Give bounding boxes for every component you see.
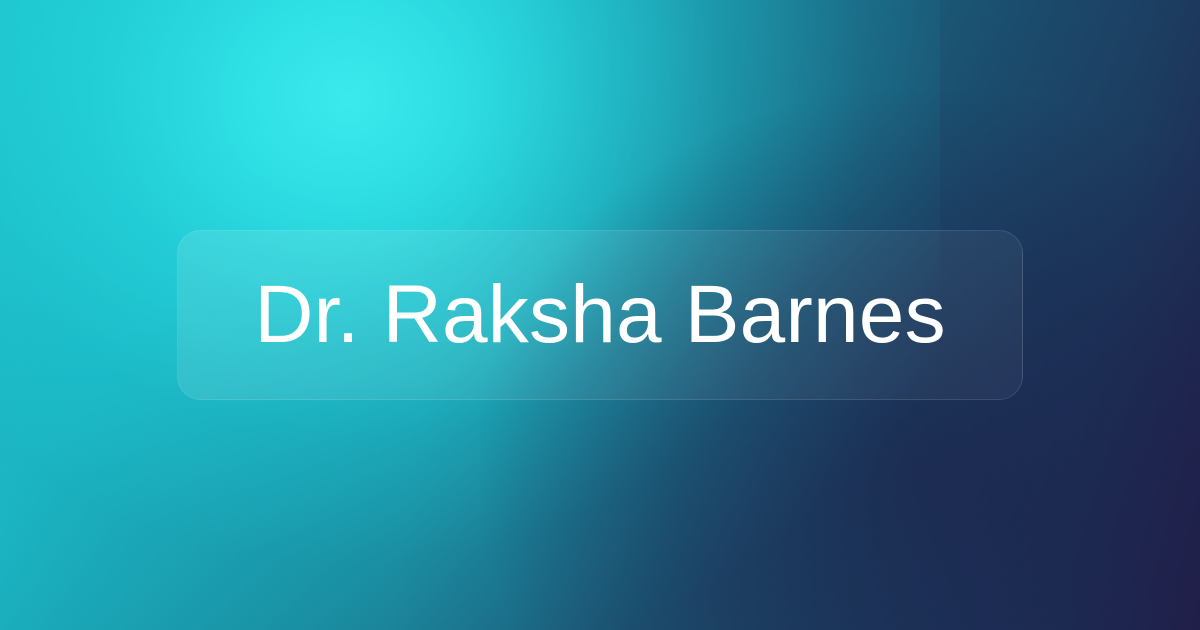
page-title: Dr. Raksha Barnes — [230, 274, 970, 356]
og-image-canvas: Dr. Raksha Barnes — [0, 0, 1200, 630]
name-card-panel: Dr. Raksha Barnes — [177, 230, 1023, 400]
